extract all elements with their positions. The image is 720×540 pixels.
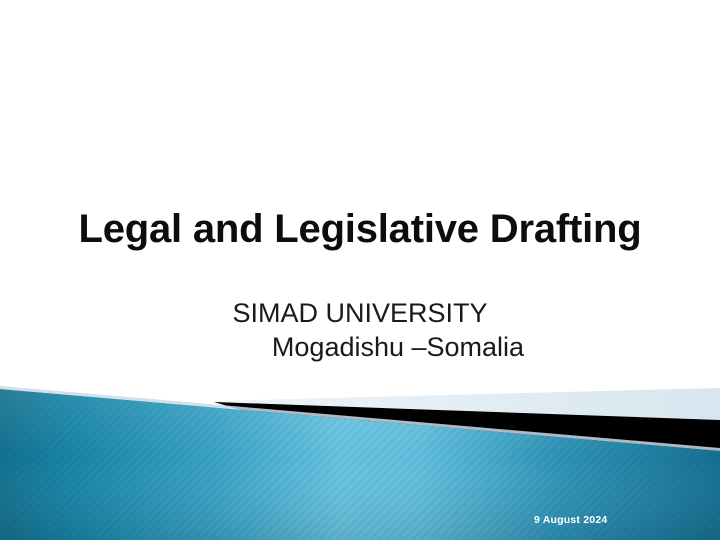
title-block: Legal and Legislative Drafting [60,206,660,252]
teal-band-shape [0,389,720,540]
date-stamp: 9 August 2024 [534,514,607,527]
subtitle-line-location: Mogadishu –Somalia [60,330,660,364]
pale-band-shape [213,388,720,421]
angled-banner-graphic [0,0,720,540]
teal-band-highlight [0,386,720,451]
subtitle-line-institution: SIMAD UNIVERSITY [60,296,660,330]
teal-band-texture [0,389,720,540]
subtitle-block: SIMAD UNIVERSITY Mogadishu –Somalia [60,296,660,364]
black-band-shape [214,402,720,452]
teal-band-shading [0,389,720,540]
presentation-slide: Legal and Legislative Drafting SIMAD UNI… [0,0,720,540]
page-title: Legal and Legislative Drafting [60,206,660,252]
